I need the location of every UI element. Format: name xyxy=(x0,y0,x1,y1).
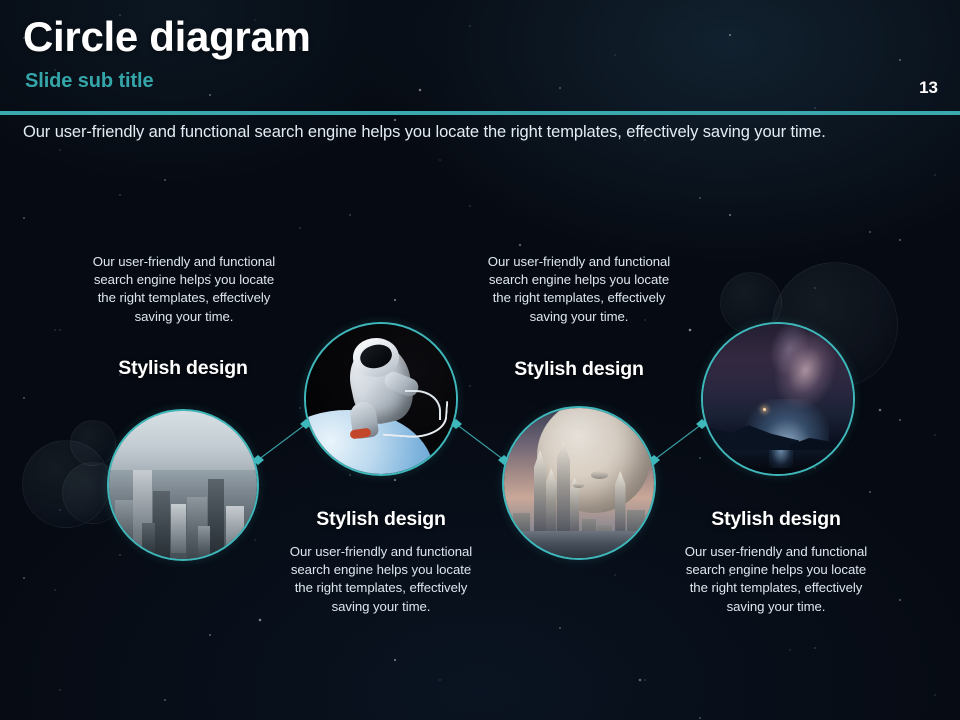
futuristic-city-image xyxy=(504,408,654,558)
item-body-4: Our user-friendly and functional search … xyxy=(680,543,872,616)
astronaut-image xyxy=(306,324,456,474)
item-title-1: Stylish design xyxy=(83,357,283,380)
diagram-node-3[interactable] xyxy=(502,406,656,560)
item-body-2: Our user-friendly and functional search … xyxy=(285,543,477,616)
diagram-node-4[interactable] xyxy=(701,322,855,476)
diagram-node-1[interactable] xyxy=(107,409,259,561)
item-title-2: Stylish design xyxy=(281,508,481,531)
item-title-3: Stylish design xyxy=(479,358,679,381)
diagram-node-2[interactable] xyxy=(304,322,458,476)
item-body-3: Our user-friendly and functional search … xyxy=(483,253,675,326)
circle-diagram: Stylish design Our user-friendly and fun… xyxy=(0,0,960,720)
city-skyline-image xyxy=(109,411,257,559)
milky-way-image xyxy=(703,324,853,474)
slide-canvas: Circle diagram Slide sub title 13 Our us… xyxy=(0,0,960,720)
item-title-4: Stylish design xyxy=(676,508,876,531)
item-body-1: Our user-friendly and functional search … xyxy=(88,253,280,326)
